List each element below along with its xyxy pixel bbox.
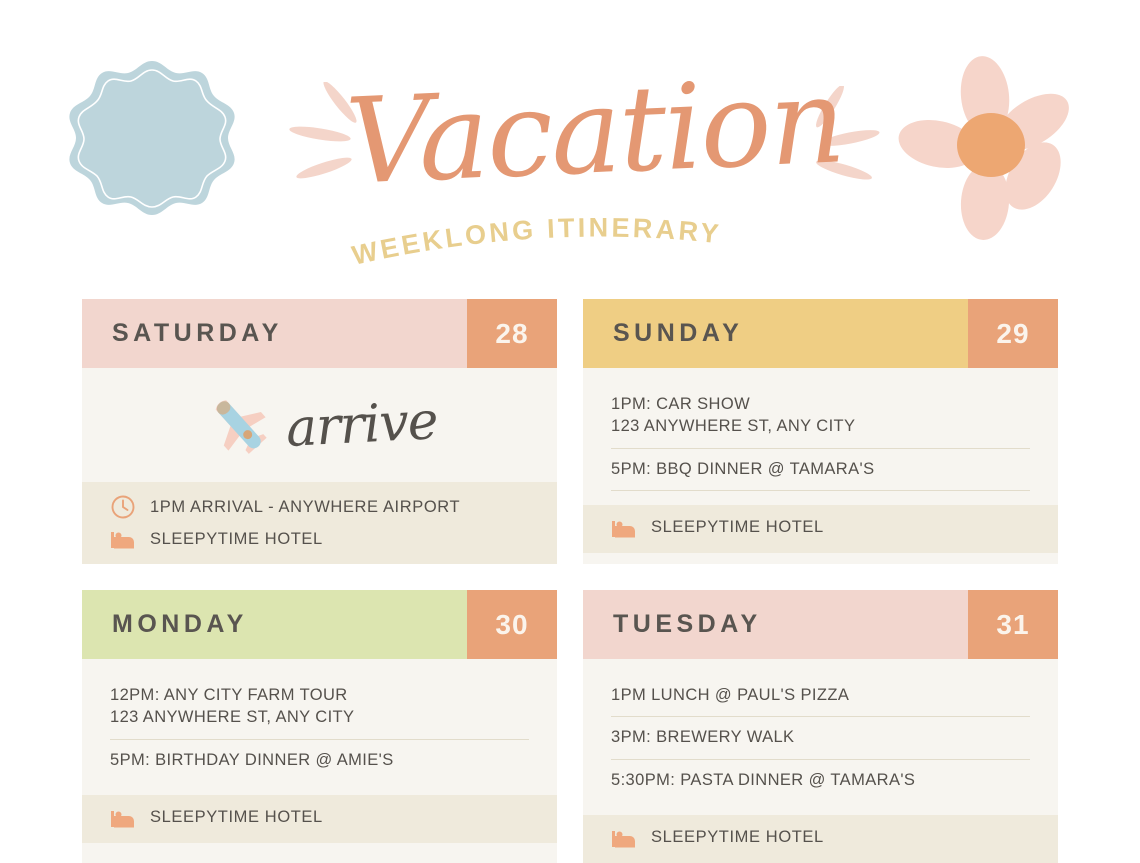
itinerary-entry: 3PM: BREWERY WALK [611, 717, 1030, 759]
day-label: MONDAY [82, 590, 467, 659]
page-title: Vacation [344, 61, 846, 201]
day-label: SATURDAY [82, 299, 467, 368]
itinerary-entry: 1PM: CAR SHOW 123 ANYWHERE ST, ANY CITY [611, 384, 1030, 449]
itinerary-entry: 1PM LUNCH @ PAUL'S PIZZA [611, 675, 1030, 717]
card-header: SUNDAY 29 [583, 299, 1058, 368]
footer-text: 1PM ARRIVAL - ANYWHERE AIRPORT [150, 498, 460, 517]
card-header: TUESDAY 31 [583, 590, 1058, 659]
footer-text: SLEEPYTIME HOTEL [651, 828, 824, 847]
entry-line-1: 3PM: BREWERY WALK [611, 728, 794, 746]
card-body: 1PM: CAR SHOW 123 ANYWHERE ST, ANY CITY … [583, 368, 1058, 505]
bed-icon [611, 827, 637, 849]
itinerary-entry: 5PM: BBQ DINNER @ TAMARA'S [611, 449, 1030, 491]
card-footer: SLEEPYTIME HOTEL [583, 505, 1058, 553]
card-body: 1PM LUNCH @ PAUL'S PIZZA 3PM: BREWERY WA… [583, 659, 1058, 815]
entry-line-1: 1PM: CAR SHOW [611, 395, 750, 413]
bed-icon [110, 807, 136, 829]
card-header: SATURDAY 28 [82, 299, 557, 368]
hero-script-text: arrive [284, 391, 438, 459]
page-subtitle: WEEKLONG ITINERARY [336, 210, 806, 280]
entry-line-1: 5PM: BIRTHDAY DINNER @ AMIE'S [110, 751, 394, 769]
entry-line-2: 123 ANYWHERE ST, ANY CITY [611, 415, 1030, 437]
airplane-icon [202, 388, 276, 462]
footer-text: SLEEPYTIME HOTEL [651, 518, 824, 537]
day-card-saturday[interactable]: SATURDAY 28 arrive [82, 299, 557, 564]
footer-row: SLEEPYTIME HOTEL [611, 517, 1030, 539]
card-footer: SLEEPYTIME HOTEL [583, 815, 1058, 863]
itinerary-grid: SATURDAY 28 arrive [82, 299, 1058, 863]
footer-text: SLEEPYTIME HOTEL [150, 530, 323, 549]
flower-icon [893, 52, 1083, 242]
footer-row: SLEEPYTIME HOTEL [110, 528, 529, 550]
date-badge: 28 [467, 299, 557, 368]
svg-text:WEEKLONG ITINERARY: WEEKLONG ITINERARY [349, 213, 723, 271]
card-footer: 1PM ARRIVAL - ANYWHERE AIRPORT SLEEPYTIM… [82, 482, 557, 564]
entry-line-2: 123 ANYWHERE ST, ANY CITY [110, 706, 529, 728]
bed-icon [110, 528, 136, 550]
footer-text: SLEEPYTIME HOTEL [150, 808, 323, 827]
card-footer: SLEEPYTIME HOTEL [82, 795, 557, 843]
footer-row: SLEEPYTIME HOTEL [611, 827, 1030, 849]
date-badge: 29 [968, 299, 1058, 368]
date-badge: 30 [467, 590, 557, 659]
subtitle-text: WEEKLONG ITINERARY [349, 213, 723, 271]
card-hero: arrive [82, 368, 557, 482]
day-card-monday[interactable]: MONDAY 30 12PM: ANY CITY FARM TOUR 123 A… [82, 590, 557, 863]
itinerary-entry: 5PM: BIRTHDAY DINNER @ AMIE'S [110, 740, 529, 781]
day-card-sunday[interactable]: SUNDAY 29 1PM: CAR SHOW 123 ANYWHERE ST,… [583, 299, 1058, 564]
itinerary-entry: 12PM: ANY CITY FARM TOUR 123 ANYWHERE ST… [110, 675, 529, 740]
card-header: MONDAY 30 [82, 590, 557, 659]
card-body: 12PM: ANY CITY FARM TOUR 123 ANYWHERE ST… [82, 659, 557, 795]
day-card-tuesday[interactable]: TUESDAY 31 1PM LUNCH @ PAUL'S PIZZA 3PM:… [583, 590, 1058, 863]
footer-row: SLEEPYTIME HOTEL [110, 807, 529, 829]
footer-row: 1PM ARRIVAL - ANYWHERE AIRPORT [110, 494, 529, 520]
entry-line-1: 1PM LUNCH @ PAUL'S PIZZA [611, 686, 849, 704]
entry-line-1: 12PM: ANY CITY FARM TOUR [110, 686, 348, 704]
itinerary-entry: 5:30PM: PASTA DINNER @ TAMARA'S [611, 760, 1030, 801]
bed-icon [611, 517, 637, 539]
clock-icon [110, 494, 136, 520]
scalloped-badge-icon [66, 58, 238, 236]
day-label: SUNDAY [583, 299, 968, 368]
day-label: TUESDAY [583, 590, 968, 659]
page-header: Vacation WEEKLONG ITINERARY [0, 0, 1140, 285]
entry-line-1: 5:30PM: PASTA DINNER @ TAMARA'S [611, 771, 915, 789]
date-badge: 31 [968, 590, 1058, 659]
entry-line-1: 5PM: BBQ DINNER @ TAMARA'S [611, 460, 874, 478]
